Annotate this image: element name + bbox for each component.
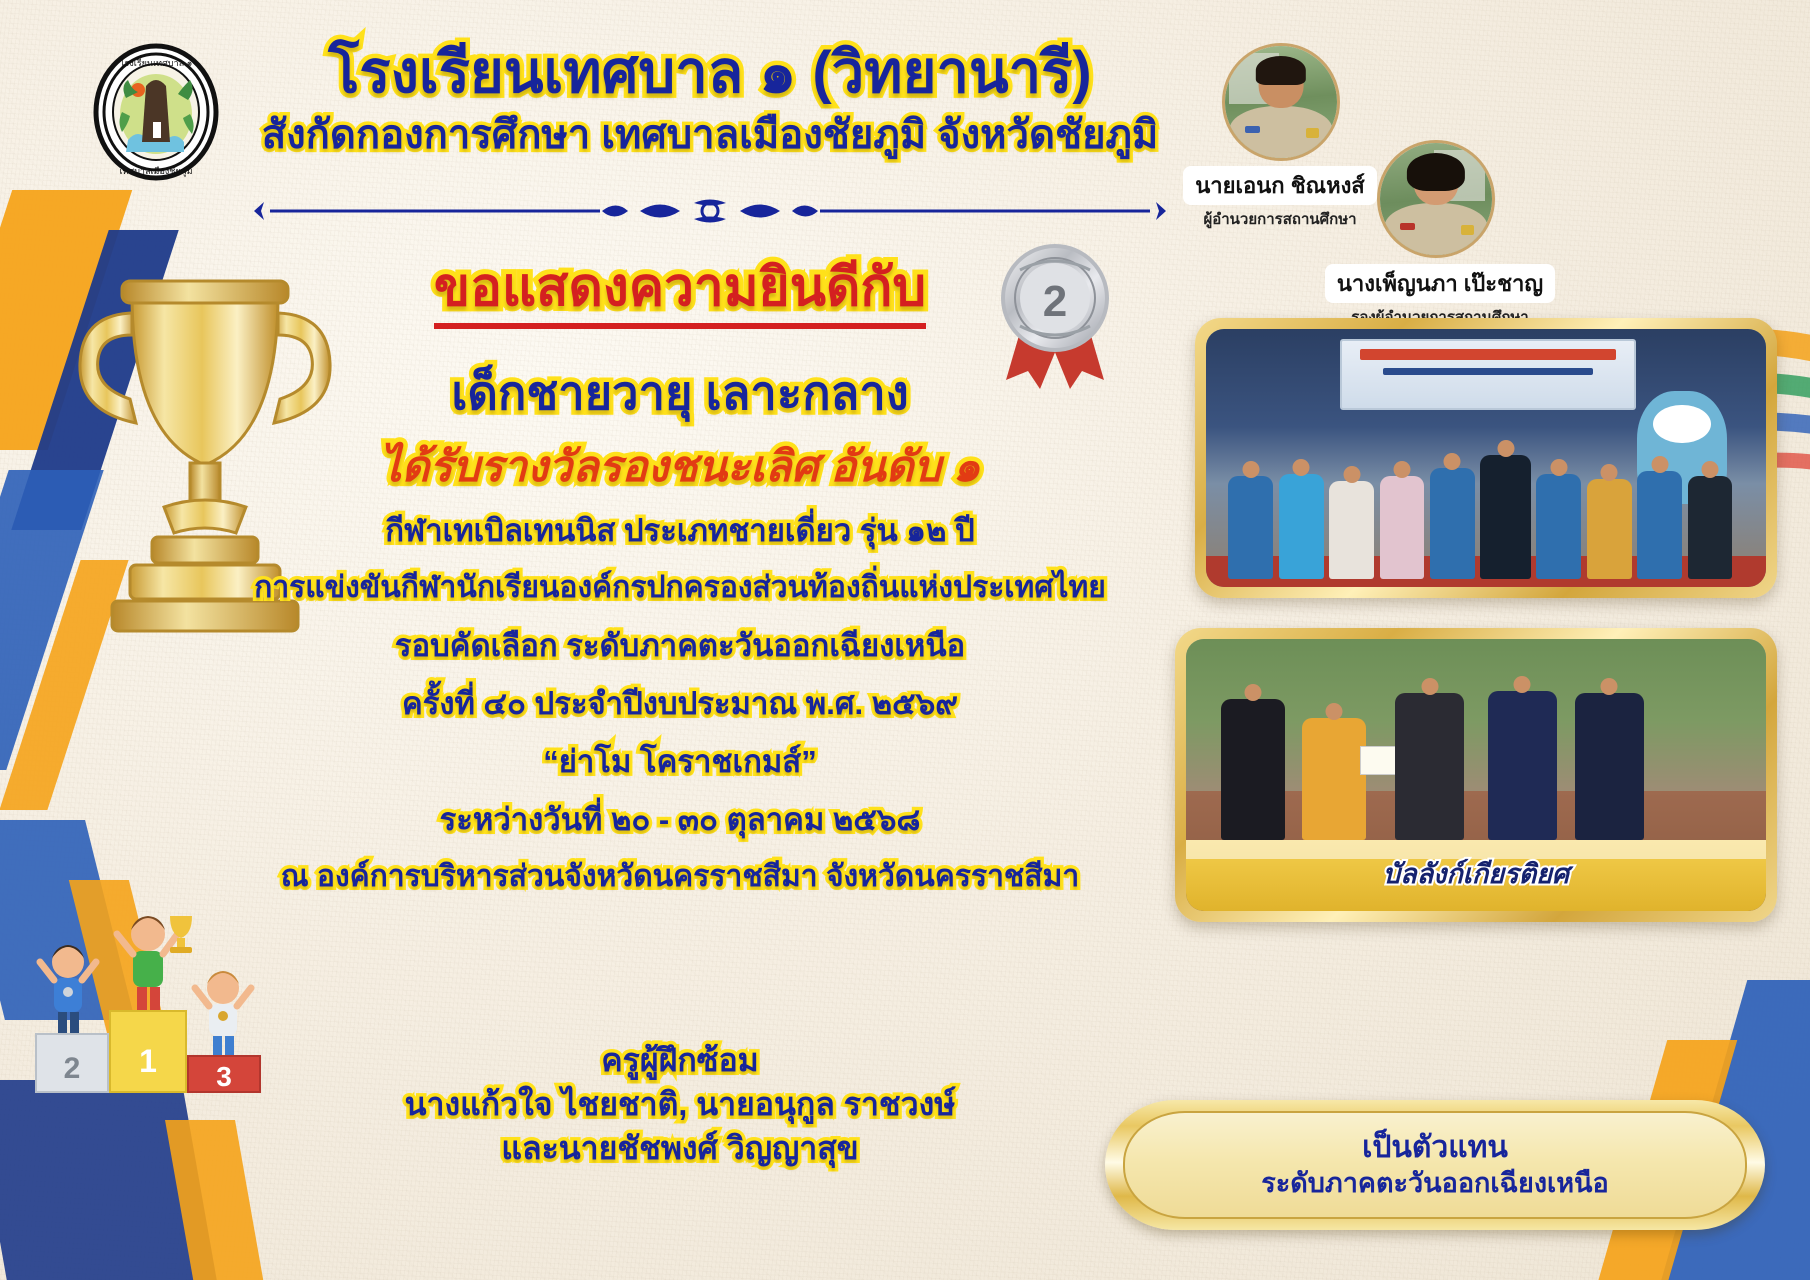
director-role: ผู้อำนวยการสถานศึกษา — [1160, 207, 1400, 231]
avatar-director — [1222, 43, 1340, 161]
photo-award-presentation: บัลลังก์เกียรติยศ — [1175, 628, 1777, 922]
svg-text:เทศบาลเมืองชัยภูมิ: เทศบาลเมืองชัยภูมิ — [119, 166, 192, 177]
title-block: โรงเรียนเทศบาล ๑ (วิทยานารี) สังกัดกองกา… — [240, 42, 1180, 159]
coach-names-line1: นางแก้วใจ ไชยชาติ, นายอนุกูล ราชวงษ์ — [200, 1082, 1160, 1126]
school-name: โรงเรียนเทศบาล ๑ (วิทยานารี) — [240, 42, 1180, 105]
school-affiliation: สังกัดกองการศึกษา เทศบาลเมืองชัยภูมิ จัง… — [240, 111, 1180, 159]
coach-names-line2: และนายชัชพงศ์ วิญญาสุข — [200, 1126, 1160, 1170]
photo-bottom-caption: บัลลังก์เกียรติยศ — [1186, 852, 1766, 895]
podium-place-3: 3 — [216, 1061, 232, 1092]
student-name: เด็กชายวายุ เลาะกลาง — [150, 365, 1210, 421]
coach-heading: ครูผู้ฝึกซ้อม — [200, 1040, 1160, 1082]
caption-director: นายเอนก ชิณหงส์ ผู้อำนวยการสถานศึกษา — [1160, 166, 1400, 231]
podium-kids-icon: 2 1 3 — [18, 900, 298, 1100]
coach-block: ครูผู้ฝึกซ้อม นางแก้วใจ ไชยชาติ, นายอนุก… — [200, 1040, 1160, 1170]
representative-badge: เป็นตัวแทน ระดับภาคตะวันออกเฉียงเหนือ — [1105, 1100, 1765, 1230]
badge-line-2: ระดับภาคตะวันออกเฉียงเหนือ — [1261, 1167, 1608, 1201]
detail-dates: ระหว่างวันที่ ๒๐ - ๓๐ ตุลาคม ๒๕๖๘ — [150, 798, 1210, 842]
photo-group-ceremony — [1195, 318, 1777, 598]
badge-line-1: เป็นตัวแทน — [1362, 1129, 1508, 1167]
school-seal-icon: โรงเรียนเทศบาล ๑ เทศบาลเมืองชัยภูมิ — [92, 42, 220, 182]
svg-text:โรงเรียนเทศบาล ๑: โรงเรียนเทศบาล ๑ — [120, 58, 193, 68]
avatar-deputy — [1377, 140, 1495, 258]
detail-games-name: “ย่าโม โคราชเกมส์” — [150, 740, 1210, 784]
detail-venue: ณ องค์การบริหารส่วนจังหวัดนครราชสีมา จัง… — [150, 856, 1210, 899]
congratulation-heading: ขอแสดงความยินดีกับ — [434, 258, 926, 329]
ornamental-divider — [250, 198, 1170, 224]
detail-round: รอบคัดเลือก ระดับภาคตะวันออกเฉียงเหนือ — [150, 624, 1210, 668]
main-text-block: ขอแสดงความยินดีกับ เด็กชายวายุ เลาะกลาง … — [150, 258, 1210, 898]
poster-header: โรงเรียนเทศบาล ๑ เทศบาลเมืองชัยภูมิ โรงเ… — [0, 0, 1810, 205]
congratulation-poster: โรงเรียนเทศบาล ๑ เทศบาลเมืองชัยภูมิ โรงเ… — [0, 0, 1810, 1280]
director-name: นายเอนก ชิณหงส์ — [1183, 166, 1377, 205]
award-title: ได้รับรางวัลรองชนะเลิศ อันดับ ๑ — [150, 441, 1210, 495]
deputy-name: นางเพ็ญนภา เป๊ะชาญ — [1325, 264, 1555, 303]
podium-place-1: 1 — [139, 1043, 157, 1079]
detail-edition-year: ครั้งที่ ๔๐ ประจำปีงบประมาณ พ.ศ. ๒๕๖๙ — [150, 682, 1210, 726]
detail-sport: กีฬาเทเบิลเทนนิส ประเภทชายเดี่ยว รุ่น ๑๒… — [150, 509, 1210, 553]
detail-competition: การแข่งขันกีฬานักเรียนองค์กรปกครองส่วนท้… — [150, 567, 1210, 610]
podium-place-2: 2 — [64, 1052, 81, 1085]
